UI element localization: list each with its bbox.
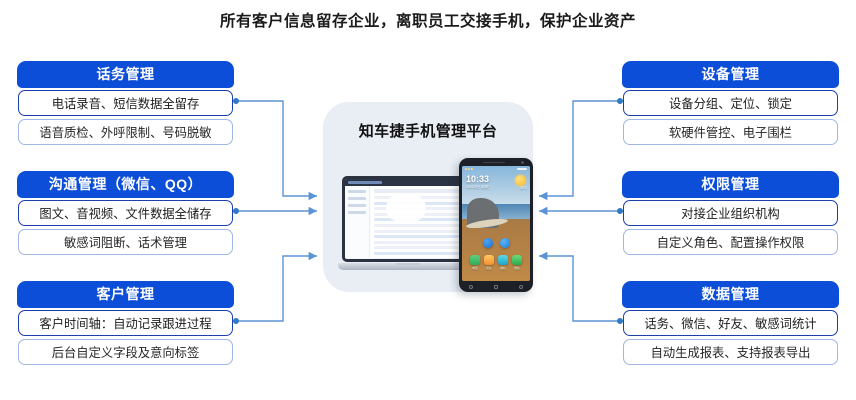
phone-screen: 10:33 10月23日 星期三 26°C 电话 短信	[462, 166, 530, 281]
app-row-bottom: 电话 短信 相机 微信	[462, 255, 530, 270]
card-title: 沟通管理（微信、QQ）	[18, 172, 233, 197]
app-camera-label: 相机	[500, 266, 505, 270]
phone-speaker	[483, 162, 505, 163]
app-info-icon[interactable]	[500, 238, 510, 248]
card-device-management[interactable]: 设备管理 设备分组、定位、锁定 软硬件管控、电子围栏	[623, 62, 838, 145]
page-headline: 所有客户信息留存企业，离职员工交接手机，保护企业资产	[0, 9, 856, 31]
card-row[interactable]: 图文、音视频、文件数据全储存	[18, 200, 233, 226]
laptop-dashboard	[338, 176, 478, 274]
platform-title: 知车捷手机管理平台	[323, 120, 533, 141]
weather-temperature: 26°C	[520, 187, 527, 190]
phone-nav-bar	[459, 282, 533, 291]
camera-icon[interactable]	[498, 255, 508, 265]
card-title: 数据管理	[623, 282, 838, 307]
card-customer-management[interactable]: 客户管理 客户时间轴：自动记录跟进过程 后台自定义字段及意向标签	[18, 282, 233, 365]
nav-back-icon[interactable]	[469, 285, 473, 289]
card-row[interactable]: 自动生成报表、支持报表导出	[623, 339, 838, 365]
app-camera[interactable]: 相机	[498, 255, 508, 270]
app-message[interactable]: 短信	[484, 255, 494, 270]
message-icon[interactable]	[484, 255, 494, 265]
card-voice-management[interactable]: 话务管理 电话录音、短信数据全留存 语音质检、外呼限制、号码脱敏	[18, 62, 233, 145]
card-row[interactable]: 对接企业组织机构	[623, 200, 838, 226]
lockscreen-clock: 10:33	[466, 175, 489, 184]
card-row[interactable]: 敏感词阻断、话术管理	[18, 229, 233, 255]
dashboard-sidebar	[345, 186, 370, 258]
card-row[interactable]: 电话录音、短信数据全留存	[18, 90, 233, 116]
smartphone: 10:33 10月23日 星期三 26°C 电话 短信	[459, 158, 533, 292]
status-signal-icon	[517, 168, 527, 170]
card-row[interactable]: 语音质检、外呼限制、号码脱敏	[18, 119, 233, 145]
card-data-management[interactable]: 数据管理 话务、微信、好友、敏感词统计 自动生成报表、支持报表导出	[623, 282, 838, 365]
card-row[interactable]: 话务、微信、好友、敏感词统计	[623, 310, 838, 336]
app-browser-icon[interactable]	[483, 238, 493, 248]
card-row[interactable]: 后台自定义字段及意向标签	[18, 339, 233, 365]
phone-status-bar	[462, 166, 530, 172]
phone-call-icon[interactable]	[470, 255, 480, 265]
dashboard-topbar	[345, 179, 471, 186]
app-wechat[interactable]: 微信	[512, 255, 522, 270]
diagram-canvas: 所有客户信息留存企业，离职员工交接手机，保护企业资产	[0, 0, 856, 400]
nav-recents-icon[interactable]	[519, 285, 523, 289]
card-permission-management[interactable]: 权限管理 对接企业组织机构 自定义角色、配置操作权限	[623, 172, 838, 255]
status-notification-icons	[465, 168, 473, 170]
app-message-label: 短信	[486, 266, 491, 270]
dashboard-brand	[348, 181, 382, 184]
card-row[interactable]: 客户时间轴：自动记录跟进过程	[18, 310, 233, 336]
app-wechat-label: 微信	[514, 266, 519, 270]
laptop-lid	[342, 176, 474, 262]
phone-app-grid: 电话 短信 相机 微信	[462, 238, 530, 275]
sun-icon	[515, 175, 526, 186]
dashboard-popover	[386, 194, 426, 222]
card-row[interactable]: 自定义角色、配置操作权限	[623, 229, 838, 255]
card-row[interactable]: 设备分组、定位、锁定	[623, 90, 838, 116]
app-row-middle	[462, 238, 530, 248]
app-phone-label: 电话	[472, 266, 477, 270]
card-title: 权限管理	[623, 172, 838, 197]
lockscreen-date: 10月23日 星期三	[466, 186, 491, 189]
phone-camera	[521, 161, 524, 164]
card-title: 客户管理	[18, 282, 233, 307]
card-title: 设备管理	[623, 62, 838, 87]
laptop-trackpad-notch	[396, 263, 420, 265]
card-title: 话务管理	[18, 62, 233, 87]
nav-home-icon[interactable]	[494, 285, 498, 289]
card-row[interactable]: 软硬件管控、电子围栏	[623, 119, 838, 145]
app-phone[interactable]: 电话	[470, 255, 480, 270]
card-communication-management[interactable]: 沟通管理（微信、QQ） 图文、音视频、文件数据全储存 敏感词阻断、话术管理	[18, 172, 233, 255]
wechat-icon[interactable]	[512, 255, 522, 265]
